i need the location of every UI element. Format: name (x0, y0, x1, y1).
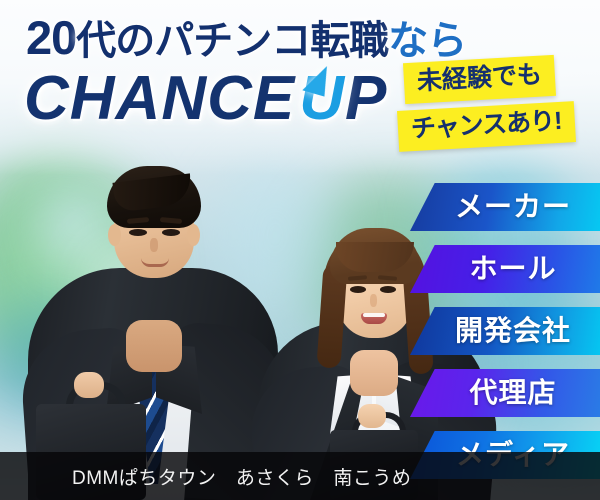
hand-right (358, 404, 386, 428)
hand-left (74, 372, 104, 398)
man-eye-left (129, 229, 147, 236)
woman-nose (370, 294, 377, 307)
caption-text: DMMぱちタウン あさくら 南こうめ (0, 463, 411, 490)
category-button-agency[interactable]: 代理店 (410, 369, 600, 417)
category-button-development[interactable]: 開発会社 (410, 307, 600, 355)
woman-eye-left (350, 286, 366, 293)
logo-word-chance: CHANCE (24, 64, 295, 133)
man-neck (126, 320, 182, 372)
man-nose (150, 238, 158, 252)
man-eye-right (162, 229, 180, 236)
badge-no-experience: 未経験でも (403, 55, 556, 104)
category-label: ホール (469, 255, 556, 283)
headline: 20代のパチンコ転職なら (26, 14, 446, 61)
logo-letter-p: P (345, 64, 387, 133)
headline-suffix: なら (388, 19, 466, 63)
woman-eye-right (380, 286, 396, 293)
logo-chance-up: CHANCEUP (24, 68, 387, 130)
ad-banner[interactable]: 20代のパチンコ転職なら CHANCEUP 未経験でも チャンスあり! メーカー… (0, 0, 600, 500)
woman-teeth (363, 313, 385, 317)
category-label: メーカー (455, 193, 571, 221)
category-label: 代理店 (469, 379, 556, 407)
caption-bar: DMMぱちタウン あさくら 南こうめ (0, 452, 600, 500)
man-ear-right (187, 224, 200, 246)
man-ear-left (108, 224, 121, 246)
woman-neck (350, 350, 398, 396)
category-button-hall[interactable]: ホール (410, 245, 600, 293)
headline-text: 代のパチンコ転職 (76, 19, 388, 63)
category-button-maker[interactable]: メーカー (410, 183, 600, 231)
category-label: 開発会社 (455, 317, 571, 345)
headline-number: 20 (26, 11, 76, 64)
